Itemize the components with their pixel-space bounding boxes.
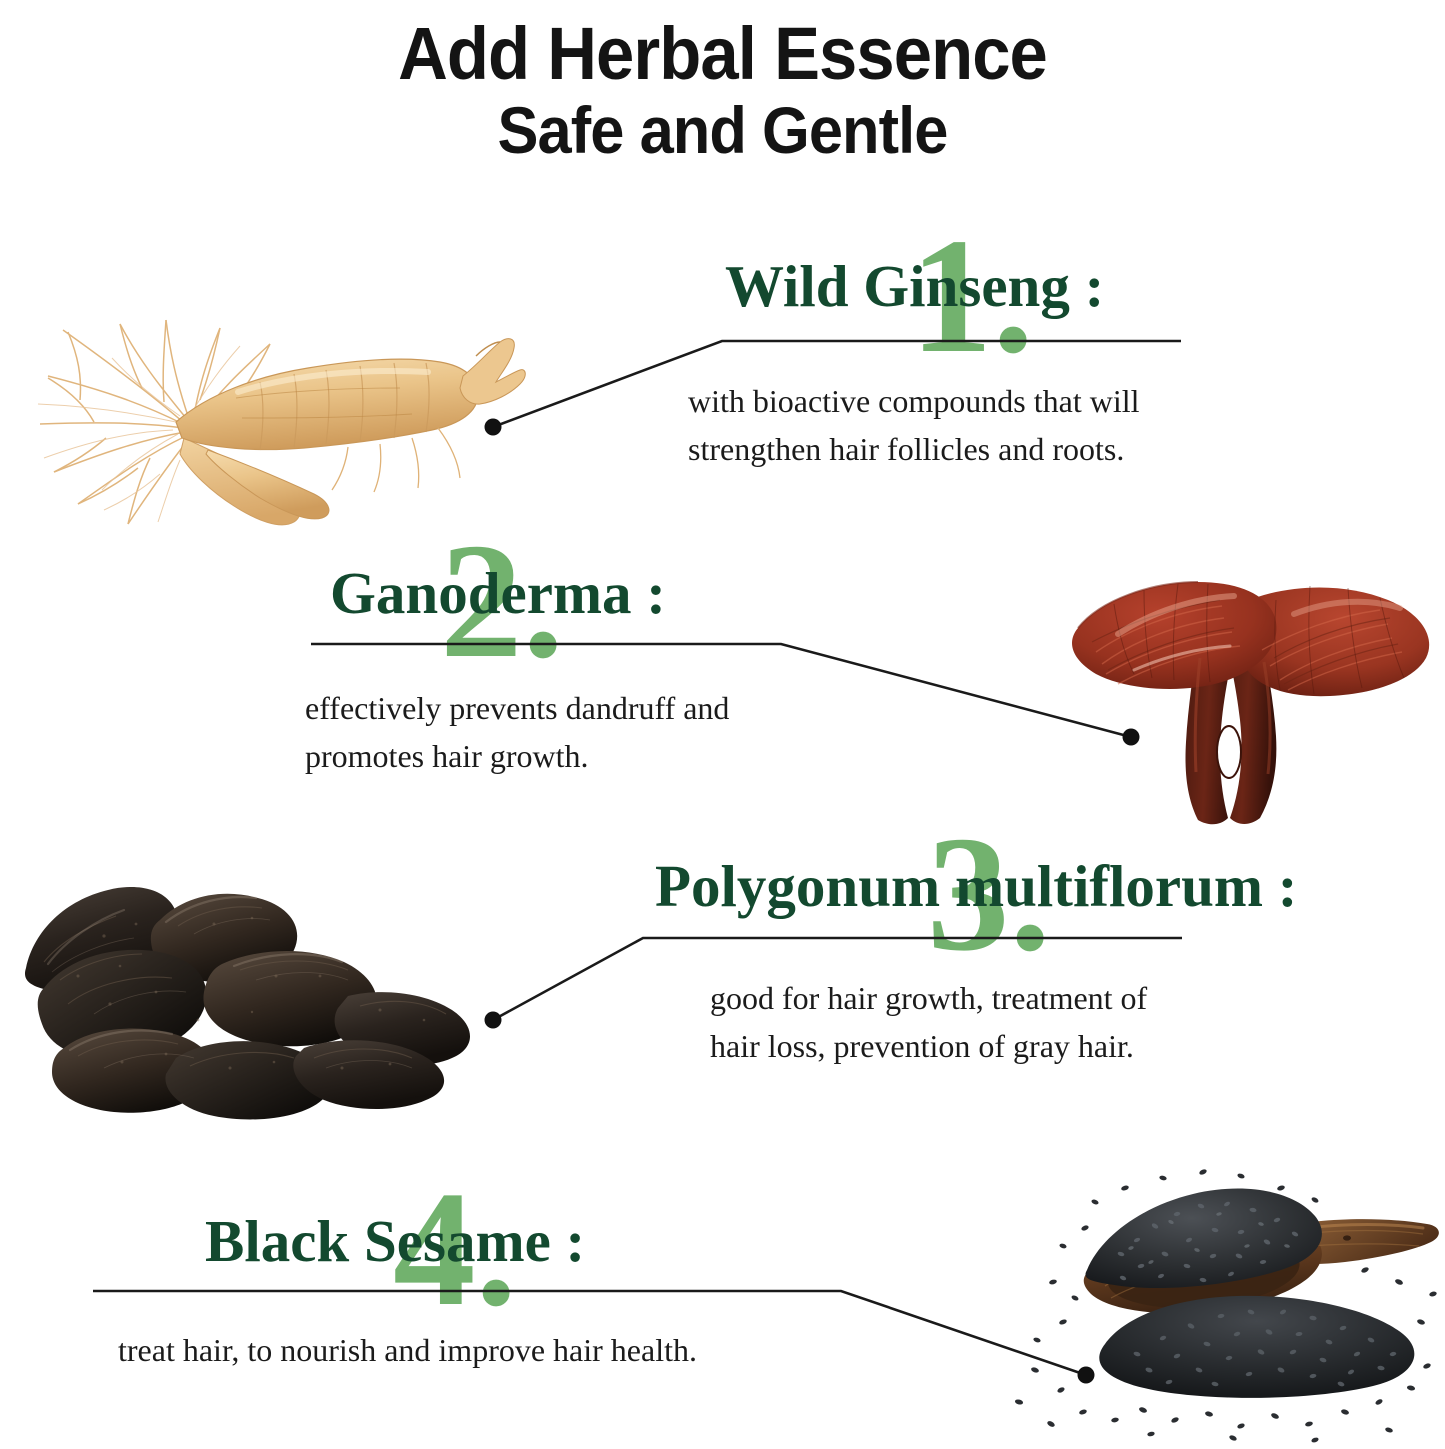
leader-lines-group xyxy=(0,0,1445,1445)
infographic-canvas: Add Herbal Essence Safe and Gentle xyxy=(0,0,1445,1445)
leader-line-3 xyxy=(485,938,1183,1029)
leader-line-1 xyxy=(485,341,1182,436)
leader-line-4 xyxy=(93,1291,1095,1384)
leader-line-2 xyxy=(311,644,1140,746)
